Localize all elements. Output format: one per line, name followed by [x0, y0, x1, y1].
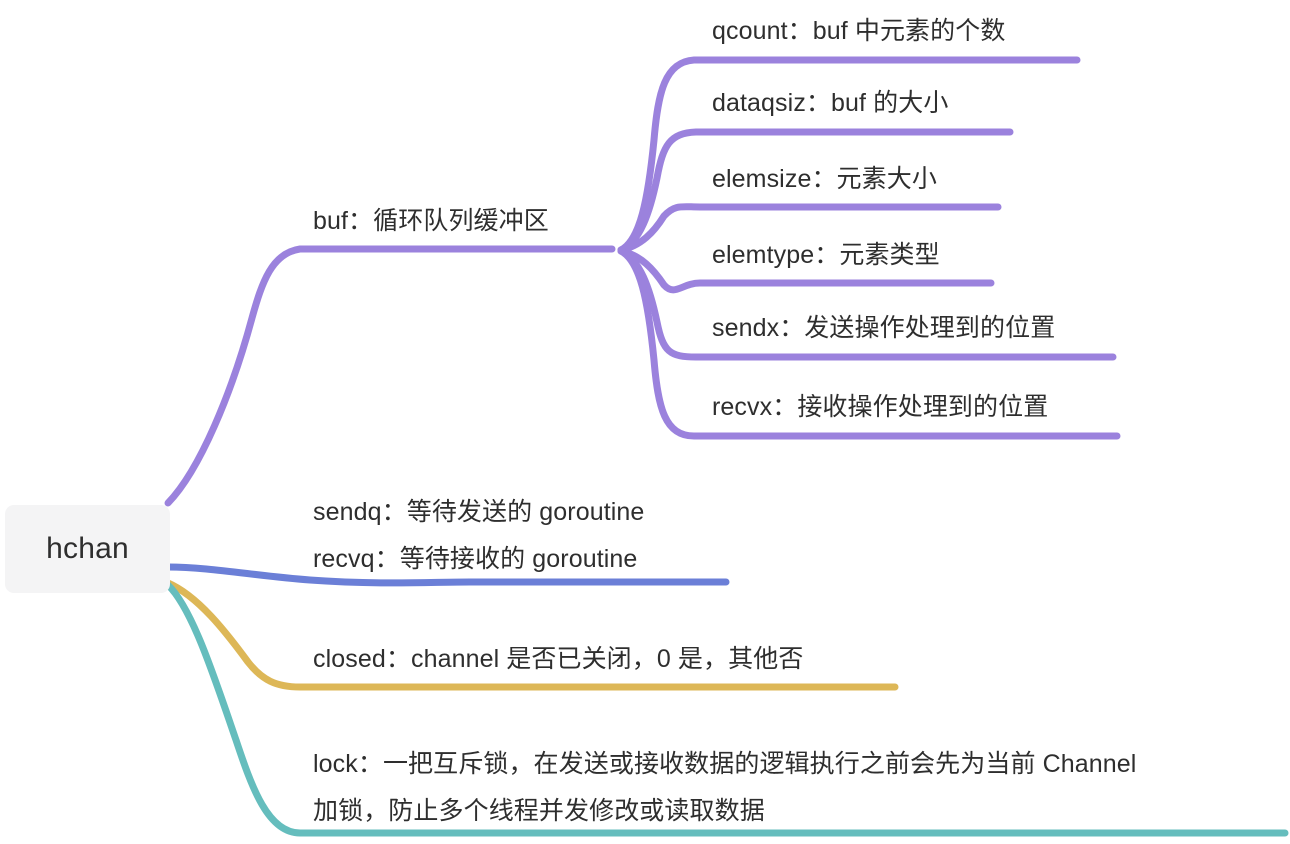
node-buf[interactable]: buf：循环队列缓冲区 — [313, 204, 549, 239]
node-closed[interactable]: closed：channel 是否已关闭，0 是，其他否 — [313, 642, 803, 677]
node-dataqsiz[interactable]: dataqsiz：buf 的大小 — [712, 86, 948, 121]
node-recvq[interactable]: recvq：等待接收的 goroutine — [313, 542, 637, 577]
mindmap-connector-lines — [0, 0, 1290, 844]
root-node-hchan[interactable]: hchan — [5, 505, 170, 593]
node-sendx[interactable]: sendx：发送操作处理到的位置 — [712, 311, 1055, 346]
node-sendq[interactable]: sendq：等待发送的 goroutine — [313, 495, 644, 530]
mindmap-canvas: hchan buf：循环队列缓冲区 qcount：buf 中元素的个数 data… — [0, 0, 1290, 844]
connector-root-to-buf — [168, 249, 612, 503]
node-elemtype[interactable]: elemtype：元素类型 — [712, 238, 940, 273]
node-lock-line1[interactable]: lock：一把互斥锁，在发送或接收数据的逻辑执行之前会先为当前 Channel — [313, 747, 1136, 782]
node-lock-line2[interactable]: 加锁，防止多个线程并发修改或读取数据 — [313, 794, 765, 829]
node-qcount[interactable]: qcount：buf 中元素的个数 — [712, 14, 1005, 49]
node-elemsize[interactable]: elemsize：元素大小 — [712, 162, 937, 197]
root-node-label: hchan — [46, 532, 129, 566]
node-recvx[interactable]: recvx：接收操作处理到的位置 — [712, 390, 1048, 425]
